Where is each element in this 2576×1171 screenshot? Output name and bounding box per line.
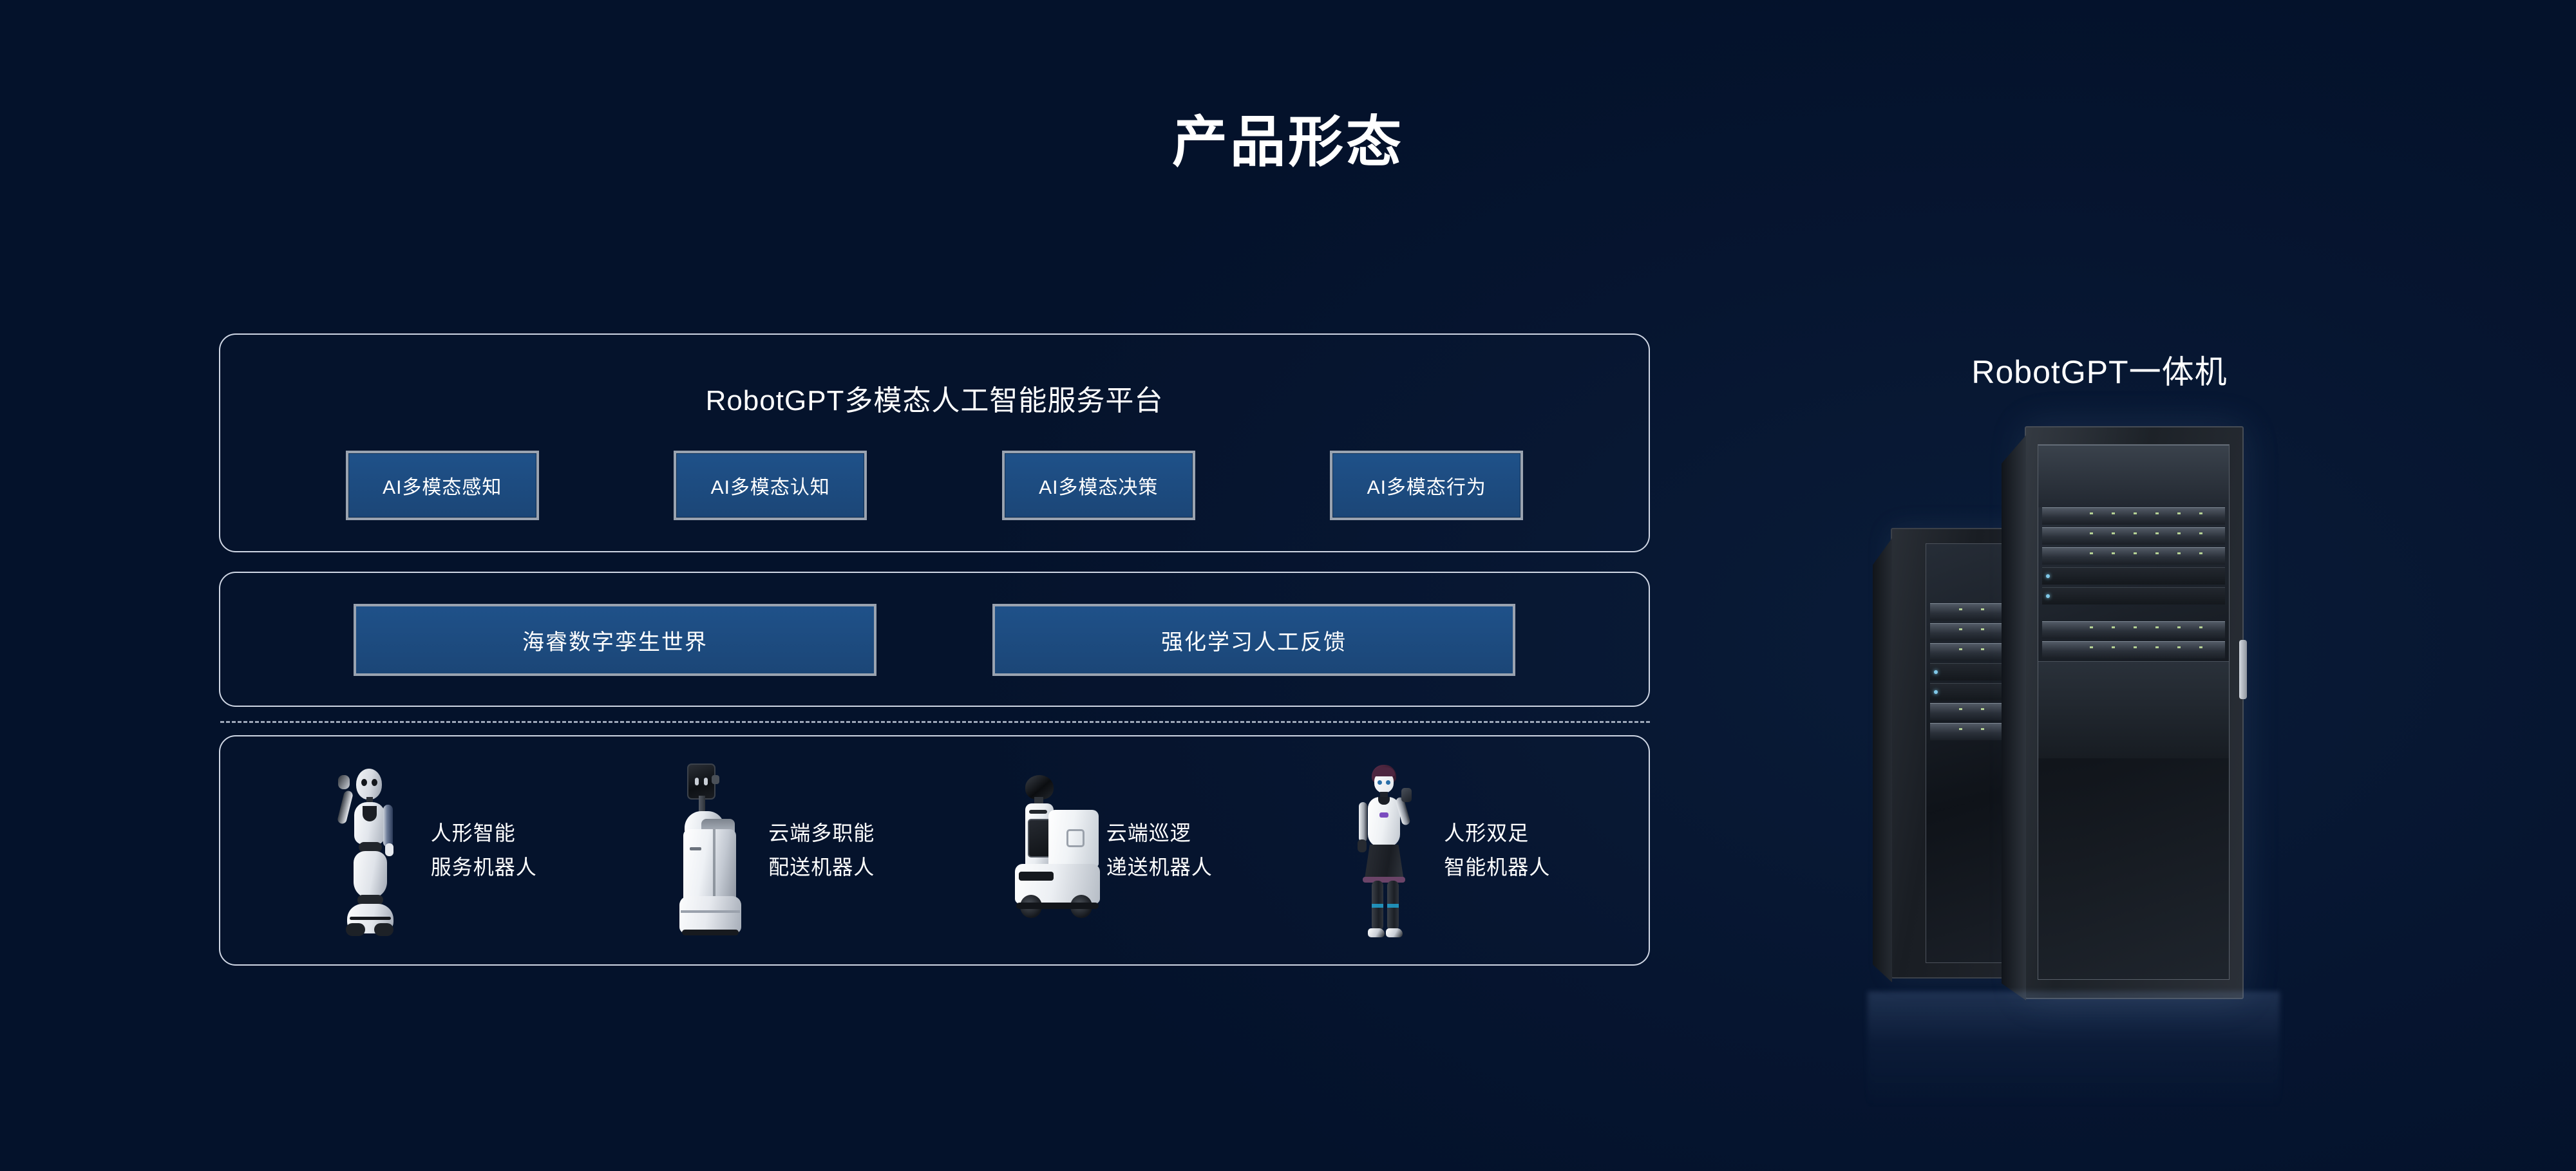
slide-canvas: 产品形态 RobotGPT多模态人工智能服务平台 AI多模态感知 AI多模态认知… <box>0 0 2576 1171</box>
robot-caption-line1: 人形双足 <box>1444 816 1550 850</box>
bipedal-humanoid-robot-icon <box>1332 757 1428 944</box>
engine-box-label: 海睿数字孪生世界 <box>522 624 708 656</box>
page-title-text: 产品形态 <box>1172 115 1404 170</box>
server-blade <box>2042 621 2225 639</box>
capability-chip-decision[interactable]: AI多模态决策 <box>1002 451 1195 520</box>
server-cabinet-front <box>2025 426 2244 999</box>
engine-panel: 海睿数字孪生世界 强化学习人工反馈 <box>219 572 1650 707</box>
robot-caption-line1: 人形智能 <box>431 816 537 850</box>
cloud-delivery-robot-icon <box>656 757 753 944</box>
server-blade <box>2042 547 2225 565</box>
server-blade <box>2042 567 2225 585</box>
robot-row: 人形智能 服务机器人 云端多职能 配送机器人 <box>220 736 1649 964</box>
server-blade <box>2042 507 2225 525</box>
capability-chip-row: AI多模态感知 AI多模态认知 AI多模态决策 AI多模态行为 <box>220 451 1649 520</box>
cabinet-door-handle[interactable] <box>2239 640 2247 699</box>
robot-item-cloud-delivery[interactable]: 云端多职能 配送机器人 <box>656 757 875 944</box>
server-blade <box>2042 587 2225 604</box>
rack-filler-panel <box>2038 445 2229 507</box>
robot-caption-line2: 服务机器人 <box>431 850 537 885</box>
cabinet-glass-door <box>2038 444 2230 980</box>
capability-chip-label: AI多模态行为 <box>1367 471 1486 500</box>
robot-item-humanoid-service[interactable]: 人形智能 服务机器人 <box>319 757 537 944</box>
cabinet-side-panel <box>2002 435 2026 1000</box>
platform-panel-heading: RobotGPT多模态人工智能服务平台 <box>220 377 1649 418</box>
engine-box-row: 海睿数字孪生世界 强化学习人工反馈 <box>220 604 1649 676</box>
robot-panel: 人形智能 服务机器人 云端多职能 配送机器人 <box>219 735 1650 966</box>
robot-caption: 云端巡逻 递送机器人 <box>1106 816 1213 885</box>
capability-chip-label: AI多模态决策 <box>1039 471 1158 500</box>
server-rack-reflection <box>1868 991 2280 1107</box>
robot-item-cloud-patrol[interactable]: 云端巡逻 递送机器人 <box>994 757 1213 944</box>
robot-caption: 人形双足 智能机器人 <box>1444 816 1550 885</box>
cabinet-side-panel <box>1873 538 1892 982</box>
humanoid-service-robot-icon <box>319 757 415 944</box>
capability-chip-cognition[interactable]: AI多模态认知 <box>674 451 867 520</box>
robot-caption-line1: 云端巡逻 <box>1106 816 1213 850</box>
rack-filler-panel <box>2038 661 2229 758</box>
platform-panel: RobotGPT多模态人工智能服务平台 AI多模态感知 AI多模态认知 AI多模… <box>219 333 1650 552</box>
robot-caption-line2: 递送机器人 <box>1106 850 1213 885</box>
blade-stack <box>2042 507 2225 659</box>
server-blade <box>2042 527 2225 545</box>
engine-box-rlhf[interactable]: 强化学习人工反馈 <box>992 604 1515 676</box>
robot-caption-line2: 智能机器人 <box>1444 850 1550 885</box>
robot-caption: 人形智能 服务机器人 <box>431 816 537 885</box>
capability-chip-label: AI多模态感知 <box>383 471 502 500</box>
robot-caption-line1: 云端多职能 <box>768 816 875 850</box>
capability-chip-behavior[interactable]: AI多模态行为 <box>1330 451 1523 520</box>
page-title: 产品形态 <box>0 115 2576 170</box>
robot-caption-line2: 配送机器人 <box>768 850 875 885</box>
rack-gap <box>2042 607 2225 621</box>
server-rack-icon <box>1868 412 2280 1062</box>
server-blade <box>2042 641 2225 659</box>
engine-box-digital-twin[interactable]: 海睿数字孪生世界 <box>354 604 876 676</box>
appliance-label: RobotGPT一体机 <box>1893 346 2306 393</box>
robot-item-bipedal-humanoid[interactable]: 人形双足 智能机器人 <box>1332 757 1550 944</box>
capability-chip-label: AI多模态认知 <box>711 471 830 500</box>
robot-caption: 云端多职能 配送机器人 <box>768 816 875 885</box>
section-divider <box>220 721 1650 723</box>
engine-box-label: 强化学习人工反馈 <box>1161 624 1347 656</box>
capability-chip-perception[interactable]: AI多模态感知 <box>346 451 539 520</box>
cloud-patrol-vehicle-icon <box>994 757 1091 944</box>
